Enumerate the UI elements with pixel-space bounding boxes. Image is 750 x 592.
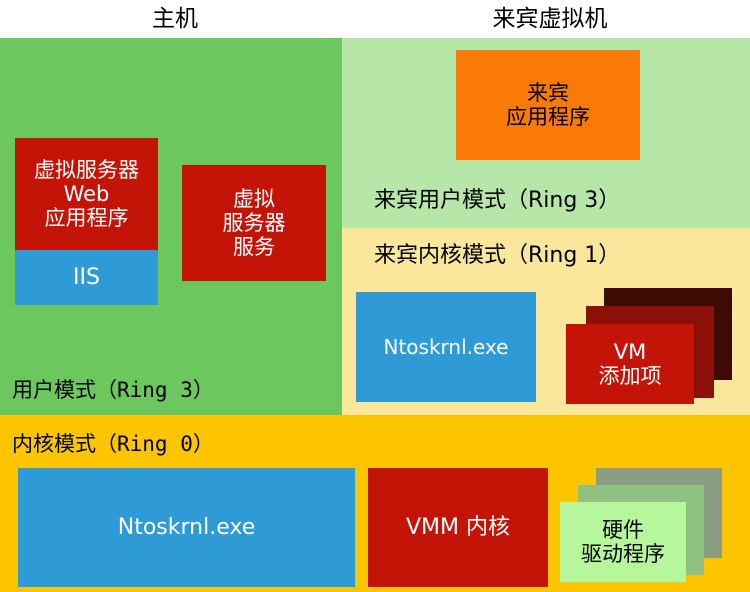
- hardware-drivers-line2: 驱动程序: [581, 542, 665, 566]
- iis-box[interactable]: IIS: [15, 250, 158, 305]
- virtual-server-web-app-box[interactable]: 虚拟服务器 Web 应用程序: [15, 138, 158, 250]
- kernel-ntoskrnl-box[interactable]: Ntoskrnl.exe: [18, 468, 355, 587]
- vmm-kernel-label: VMM 内核: [406, 515, 510, 540]
- virtual-server-service-box[interactable]: 虚拟 服务器 服务: [182, 165, 326, 281]
- guest-ntoskrnl-label: Ntoskrnl.exe: [384, 336, 509, 359]
- vm-additions-line2: 添加项: [599, 364, 662, 388]
- virtual-server-service-line2: 服务器: [223, 211, 286, 235]
- guest-user-mode-ring-label: 来宾用户模式（Ring 3）: [374, 182, 620, 214]
- architecture-diagram: 主机 来宾虚拟机 虚拟服务器 Web 应用程序 IIS 虚拟 服务器 服务 用户…: [0, 0, 750, 592]
- column-header-host: 主机: [60, 4, 290, 34]
- guest-application-line2: 应用程序: [506, 105, 590, 129]
- virtual-server-web-app-line1: 虚拟服务器: [34, 158, 139, 182]
- vm-additions-box[interactable]: VM 添加项: [566, 324, 694, 404]
- guest-kernel-mode-ring-label: 来宾内核模式（Ring 1）: [374, 237, 620, 269]
- guest-ntoskrnl-box[interactable]: Ntoskrnl.exe: [356, 292, 536, 402]
- kernel-ntoskrnl-label: Ntoskrnl.exe: [118, 515, 255, 540]
- guest-application-box[interactable]: 来宾 应用程序: [456, 50, 640, 160]
- virtual-server-web-app-line2: Web: [34, 182, 139, 206]
- host-user-mode-ring-label: 用户模式（Ring 3）: [12, 374, 214, 404]
- virtual-server-service-line1: 虚拟: [223, 187, 286, 211]
- guest-application-line1: 来宾: [506, 81, 590, 105]
- vm-additions-line1: VM: [599, 340, 662, 364]
- vmm-kernel-box[interactable]: VMM 内核: [368, 468, 548, 587]
- virtual-server-web-app-line3: 应用程序: [34, 206, 139, 230]
- hardware-drivers-line1: 硬件: [581, 518, 665, 542]
- virtual-server-service-line3: 服务: [223, 235, 286, 259]
- kernel-mode-ring-label: 内核模式（Ring 0）: [12, 428, 214, 458]
- column-header-guest-vm: 来宾虚拟机: [430, 4, 670, 34]
- hardware-drivers-box[interactable]: 硬件 驱动程序: [560, 502, 686, 582]
- iis-label: IIS: [73, 265, 100, 290]
